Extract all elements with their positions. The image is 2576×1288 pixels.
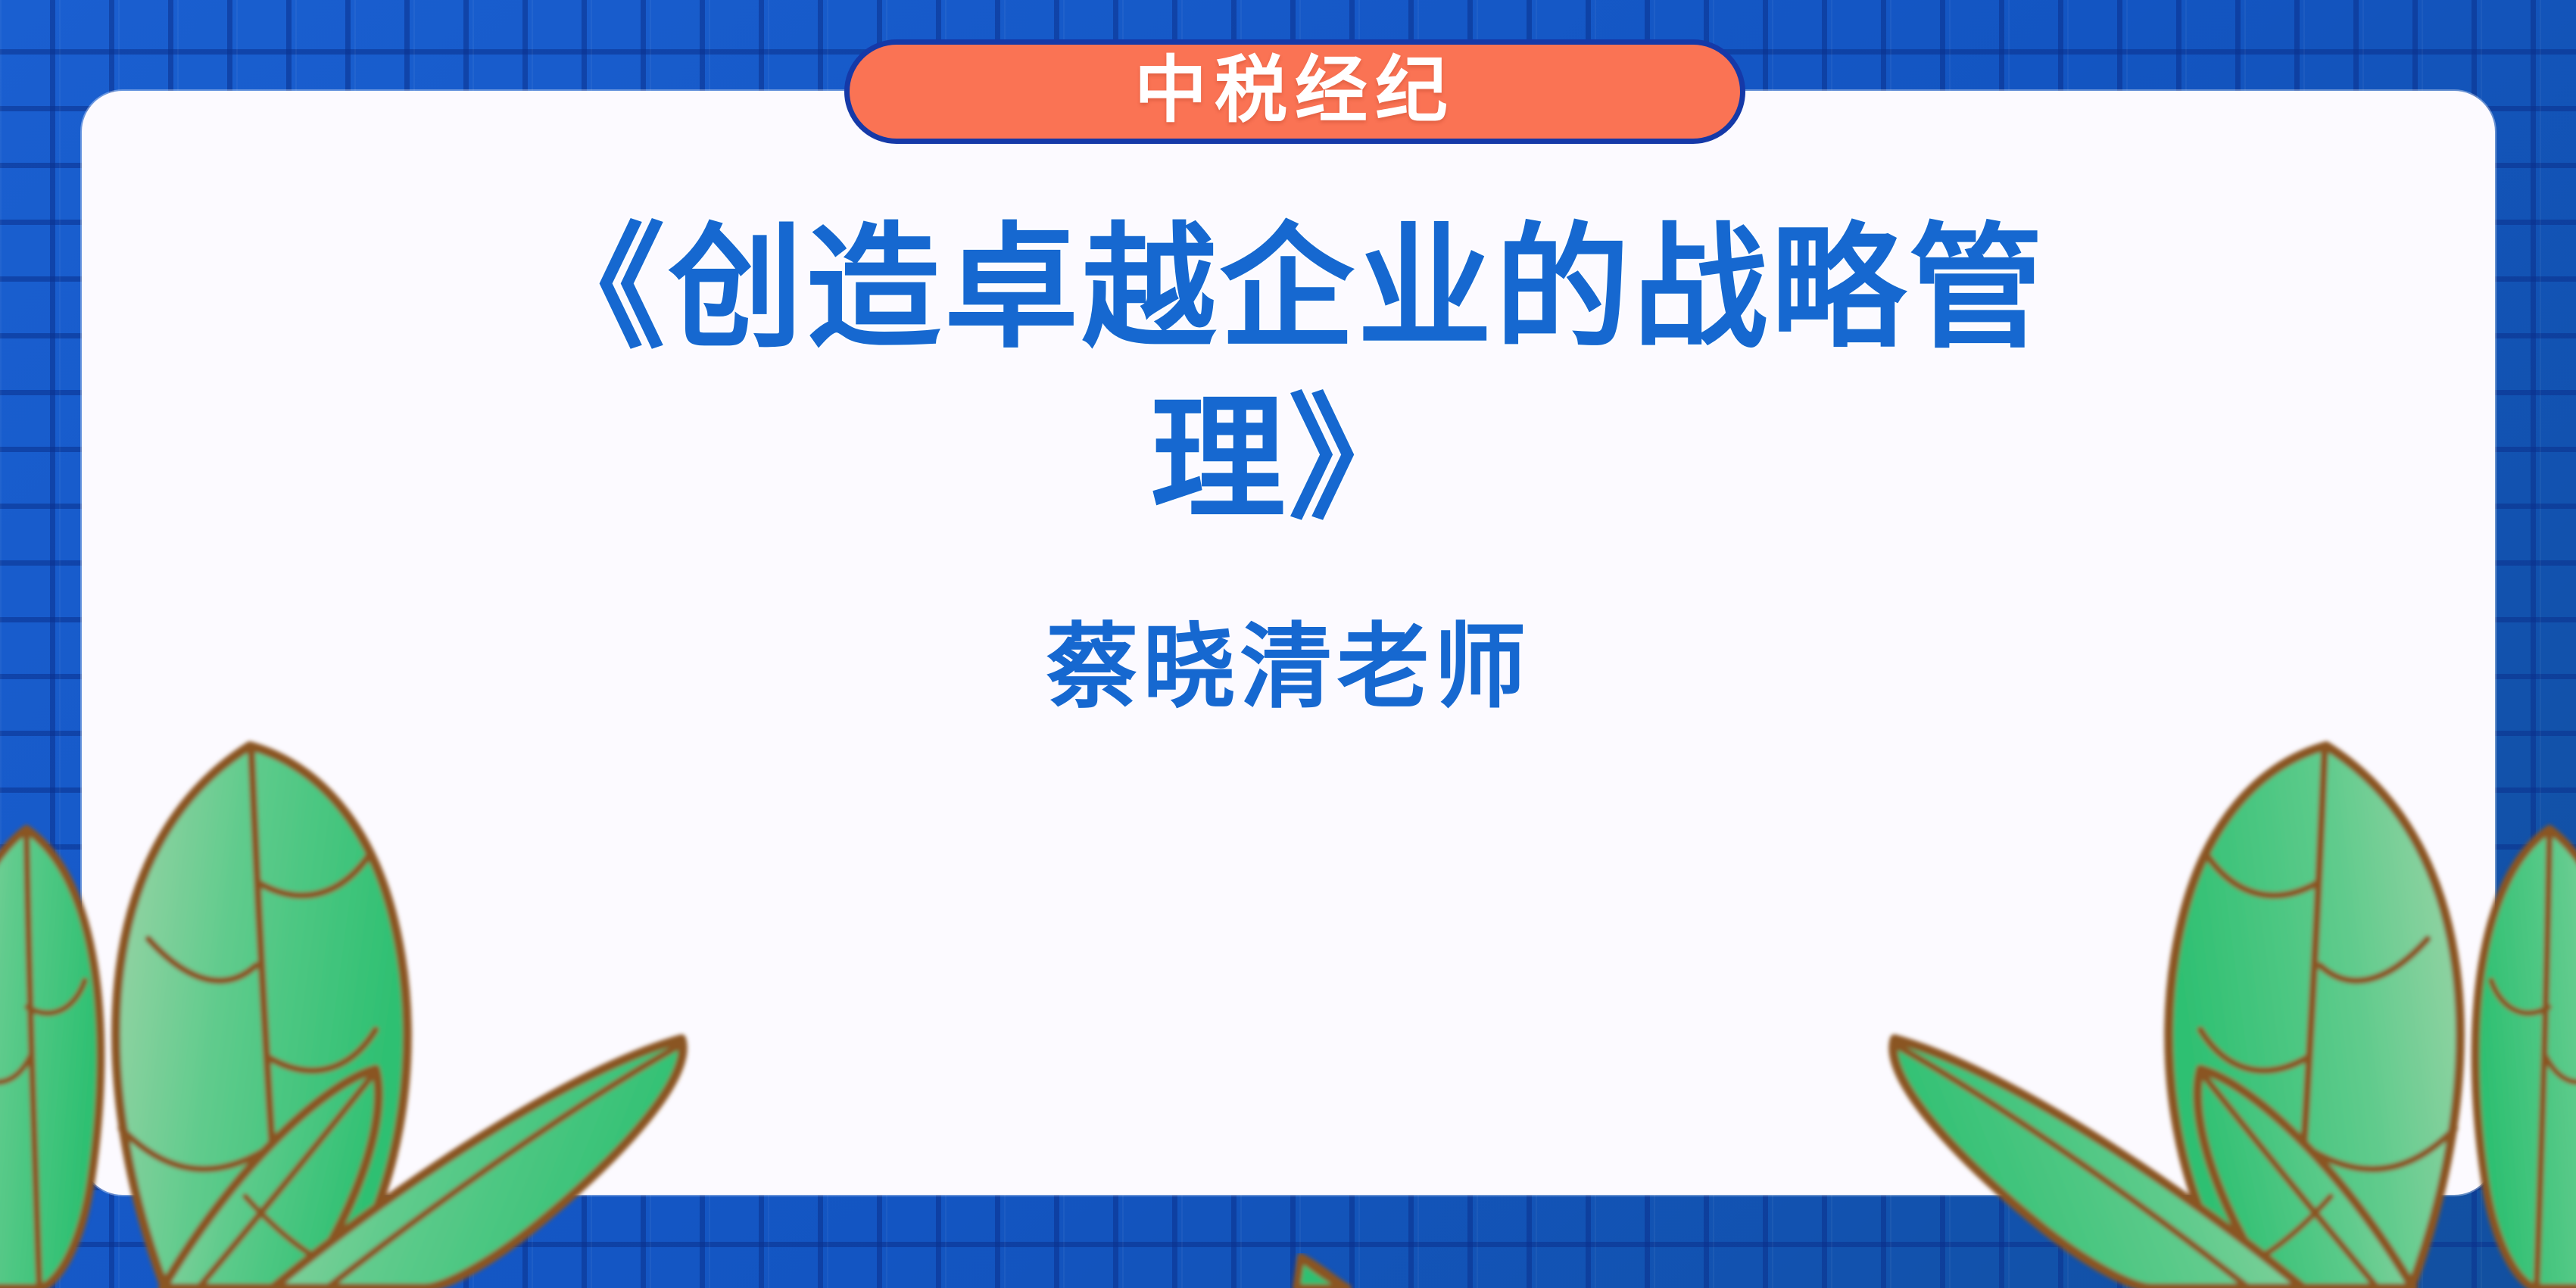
brand-badge-label: 中税经纪 bbox=[1134, 54, 1455, 126]
presentation-slide: 中税经纪 《创造卓越企业的战略管 理》 蔡晓清老师 bbox=[0, 0, 2576, 1288]
brand-badge[interactable]: 中税经纪 bbox=[844, 39, 1745, 144]
content-card bbox=[82, 91, 2495, 1195]
